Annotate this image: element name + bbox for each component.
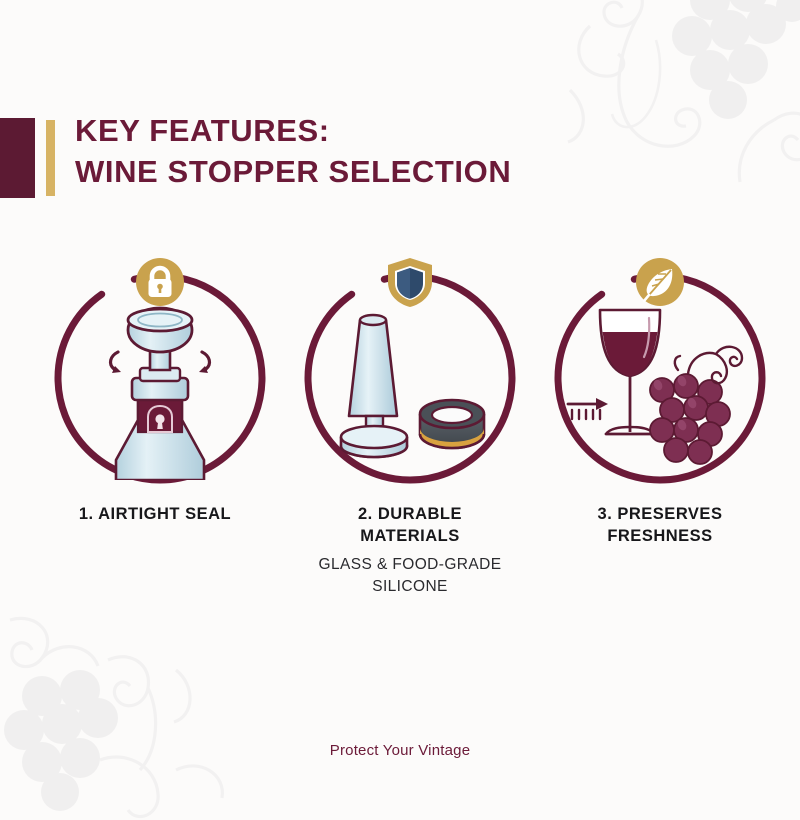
feature-card-2[interactable]	[285, 268, 535, 488]
feature-caption-3-line-1: 3. PRESERVES	[535, 503, 785, 525]
feature-card-3[interactable]	[535, 268, 785, 488]
page-title-block: KEY FEATURES: WINE STOPPER SELECTION	[0, 118, 620, 198]
bottle-stopper-seal-icon	[66, 294, 254, 480]
feature-subtitle-2-line-2: SILICONE	[280, 576, 540, 598]
feature-caption-3-line-2: FRESHNESS	[535, 525, 785, 547]
page-title-line-1: KEY FEATURES:	[75, 110, 615, 151]
title-accent-swatch	[0, 118, 35, 198]
page-title-line-2: WINE STOPPER SELECTION	[75, 151, 615, 192]
feature-ring-3	[550, 268, 770, 488]
grape-vine-watermark-bottom-left	[0, 610, 240, 820]
feature-ring-2	[300, 268, 520, 488]
feature-caption-2-line-1: 2. DURABLE	[285, 503, 535, 525]
title-accent-bar	[46, 120, 55, 196]
wine-glass-grapes-icon	[566, 294, 754, 480]
feature-caption-2: 2. DURABLE MATERIALS	[285, 503, 535, 547]
feature-subtitle-2: GLASS & FOOD-GRADE SILICONE	[280, 554, 540, 598]
footer-tagline: Protect Your Vintage	[0, 742, 800, 759]
feature-subtitle-2-line-1: GLASS & FOOD-GRADE	[280, 554, 540, 576]
infographic-canvas: KEY FEATURES: WINE STOPPER SELECTION	[0, 0, 800, 800]
feature-ring-1	[50, 268, 270, 488]
feature-caption-1-line-1: 1. AIRTIGHT SEAL	[30, 503, 280, 525]
glass-stopper-silicone-ring-icon	[316, 294, 504, 480]
feature-caption-3: 3. PRESERVES FRESHNESS	[535, 503, 785, 547]
page-title: KEY FEATURES: WINE STOPPER SELECTION	[75, 110, 615, 192]
feature-caption-1: 1. AIRTIGHT SEAL	[30, 503, 280, 525]
feature-caption-2-line-2: MATERIALS	[285, 525, 535, 547]
feature-card-1[interactable]	[35, 268, 285, 488]
